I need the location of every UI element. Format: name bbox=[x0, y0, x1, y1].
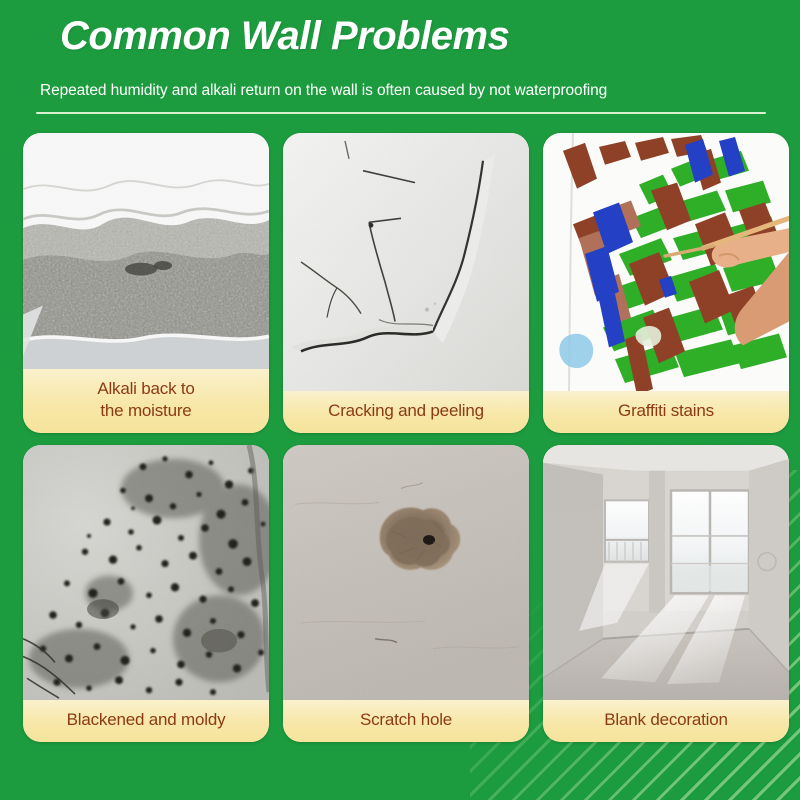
card-caption: Alkali back to the moisture bbox=[23, 369, 269, 433]
problem-card-scratch-hole[interactable]: Scratch hole bbox=[283, 445, 529, 742]
card-caption: Cracking and peeling bbox=[283, 391, 529, 433]
child-painting-wall-photo bbox=[543, 133, 789, 391]
problem-card-graffiti[interactable]: Graffiti stains bbox=[543, 133, 789, 433]
page-title: Common Wall Problems bbox=[36, 0, 764, 56]
cracked-peeling-wall-photo bbox=[283, 133, 529, 391]
caption-line-1: Alkali back to bbox=[97, 379, 194, 398]
empty-unfinished-room-photo bbox=[543, 445, 789, 700]
card-caption: Scratch hole bbox=[283, 700, 529, 742]
problem-card-blank-decoration[interactable]: Blank decoration bbox=[543, 445, 789, 742]
efflorescence-wall-photo bbox=[23, 133, 269, 369]
header: Common Wall Problems Repeated humidity a… bbox=[0, 0, 800, 114]
card-caption: Blackened and moldy bbox=[23, 700, 269, 742]
page-subtitle: Repeated humidity and alkali return on t… bbox=[36, 56, 764, 100]
problem-card-alkali[interactable]: Alkali back to the moisture bbox=[23, 133, 269, 433]
mold-spots-wall-photo bbox=[23, 445, 269, 700]
wall-gouge-hole-photo bbox=[283, 445, 529, 700]
problem-card-moldy[interactable]: Blackened and moldy bbox=[23, 445, 269, 742]
caption-line-2: the moisture bbox=[100, 401, 191, 420]
card-caption: Blank decoration bbox=[543, 700, 789, 742]
card-caption: Graffiti stains bbox=[543, 391, 789, 433]
problem-card-grid: Alkali back to the moisture bbox=[0, 114, 800, 742]
problem-card-cracking[interactable]: Cracking and peeling bbox=[283, 133, 529, 433]
